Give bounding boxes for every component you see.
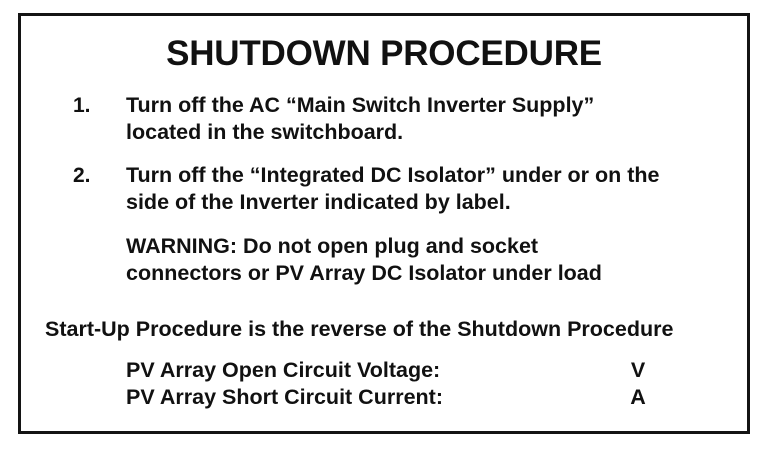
warning-text-line: WARNING: Do not open plug and socket [126,233,733,260]
step-text: Turn off the “Integrated DC Isolator” un… [126,162,731,216]
page-title: SHUTDOWN PROCEDURE [21,34,747,74]
table-row: PV Array Open Circuit Voltage: V [126,357,737,384]
warning-text: WARNING: Do not open plug and socket con… [126,233,733,287]
step-text-line: side of the Inverter indicated by label. [126,189,731,216]
table-row: PV Array Short Circuit Current: A [126,384,737,411]
spec-label: PV Array Open Circuit Voltage: [126,357,440,384]
spec-unit: V [626,357,650,384]
step-number: 1. [73,92,103,119]
warning-text-line: connectors or PV Array DC Isolator under… [126,260,733,287]
procedure-step-list: 1. Turn off the AC “Main Switch Inverter… [21,92,747,232]
step-text: Turn off the AC “Main Switch Inverter Su… [126,92,731,146]
step-text-line: Turn off the AC “Main Switch Inverter Su… [126,92,731,119]
spec-unit: A [626,384,650,411]
spec-label: PV Array Short Circuit Current: [126,384,443,411]
array-specification-table: PV Array Open Circuit Voltage: V PV Arra… [126,357,737,411]
step-text-line: located in the switchboard. [126,119,731,146]
startup-procedure-note: Start-Up Procedure is the reverse of the… [45,316,741,343]
shutdown-procedure-label: SHUTDOWN PROCEDURE 1. Turn off the AC “M… [18,13,750,434]
step-number: 2. [73,162,103,189]
step-text-line: Turn off the “Integrated DC Isolator” un… [126,162,731,189]
list-item: 1. Turn off the AC “Main Switch Inverter… [21,92,747,146]
list-item: 2. Turn off the “Integrated DC Isolator”… [21,162,747,216]
